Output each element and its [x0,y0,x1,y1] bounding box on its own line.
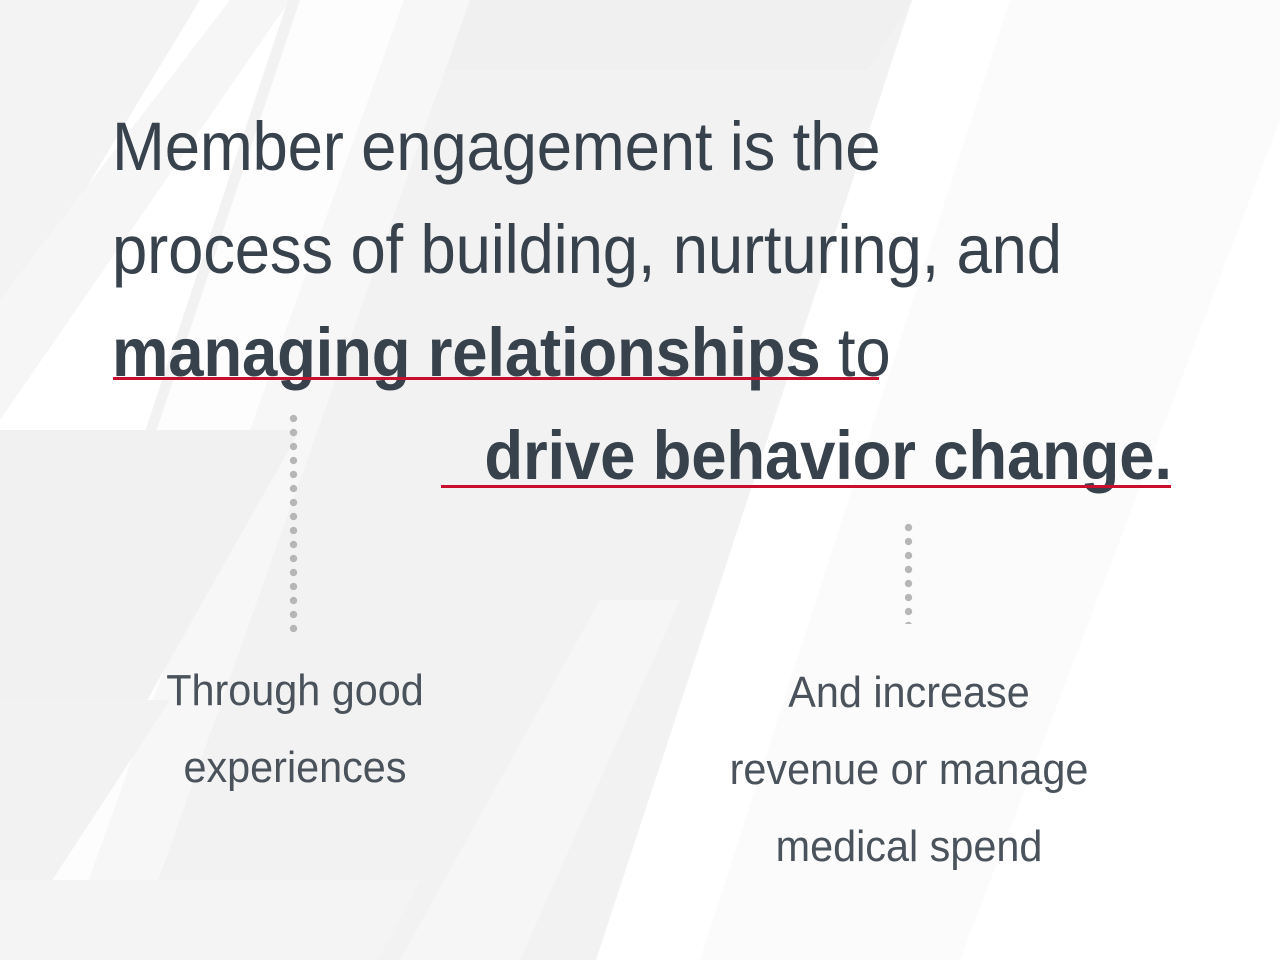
caption-right-line-1: And increase [652,654,1165,731]
caption-left-line-2: experiences [93,729,497,806]
dotted-connector-right [904,523,913,624]
headline-emphasis-managing-relationships: managing relationships [112,301,820,404]
dotted-connector-left [289,414,298,638]
headline: Member engagement is the process of buil… [112,95,1115,507]
slide-content: Member engagement is the process of buil… [0,0,1280,960]
headline-emphasis-drive-behavior-change: drive behavior change. [484,404,1171,507]
caption-right-line-2: revenue or manage [652,731,1165,808]
headline-line-4: drive behavior change. [112,404,1172,507]
caption-right-line-3: medical spend [652,808,1165,885]
headline-line-1: Member engagement is the [112,95,1115,198]
caption-right: And increase revenue or manage medical s… [652,654,1165,885]
underline-managing-relationships [113,377,879,380]
headline-line-2: process of building, nurturing, and [112,198,1115,301]
underline-drive-behavior-change [441,485,1171,488]
caption-left-line-1: Through good [93,652,497,729]
caption-left: Through good experiences [93,652,497,806]
slide-canvas: Member engagement is the process of buil… [0,0,1280,960]
headline-line-3: managing relationships to [112,301,1115,404]
